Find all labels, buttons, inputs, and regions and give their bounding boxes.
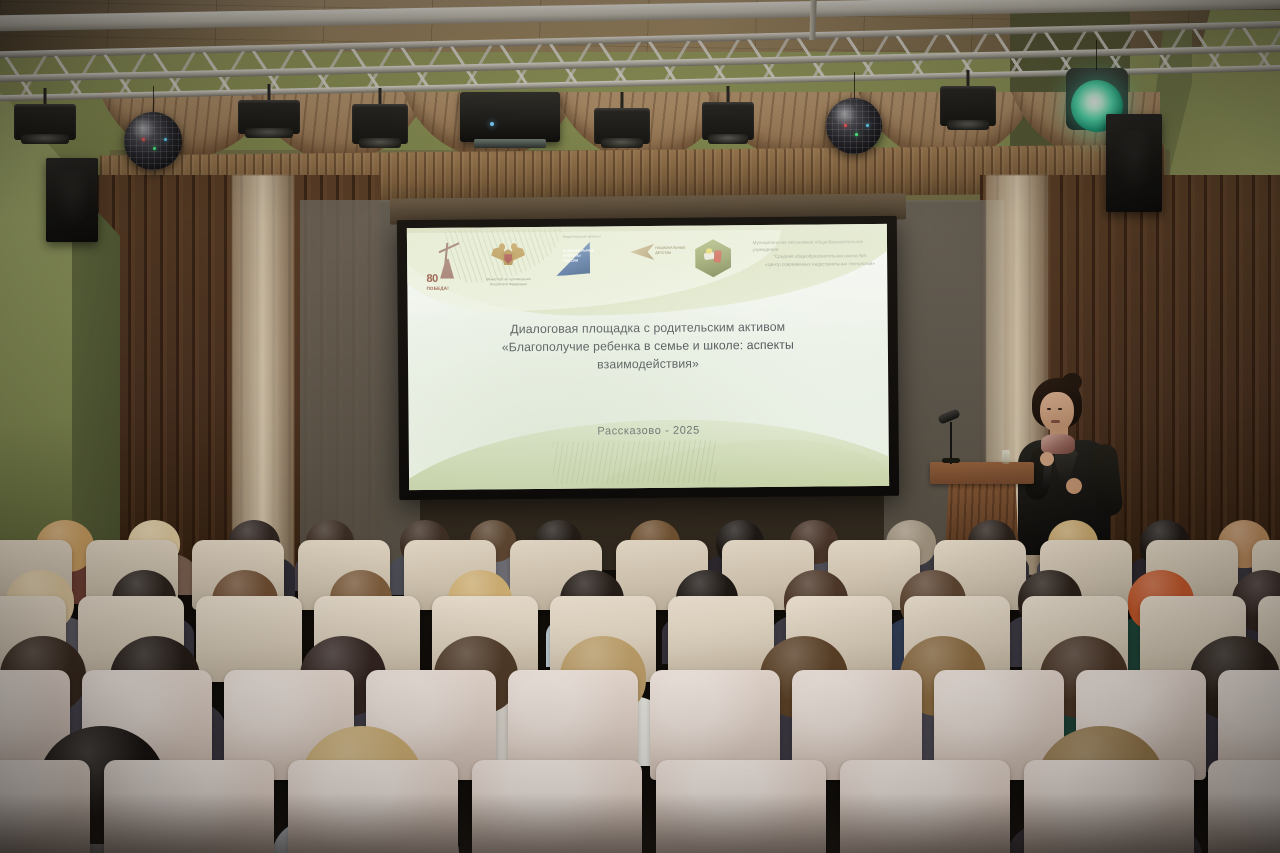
national-projects-label-3: РОССИИ [563,259,578,263]
par-can-light-6 [940,70,996,132]
movement-hexagon-logo [695,239,731,277]
school-name-block: Муниципальное автономное общеобразовател… [753,238,888,268]
slide-logo-row: 80 ПОБЕДА! Министерство просвещения Росс… [407,234,887,280]
par-can-light-2 [238,84,300,140]
detstvo-arrow-logo: НАЦИОНАЛЬНЫЕ ДЕТСТВА [630,242,684,266]
par-can-light-4 [594,92,650,150]
floor-shadow [0,793,1280,853]
mirror-ball-sparkle-icon [844,124,847,127]
presenter-face [1040,392,1074,432]
light-clamp-icon [379,88,382,104]
auditorium-photo: 80 ПОБЕДА! Министерство просвещения Росс… [0,0,1280,853]
mirror-ball-hang-wire [854,72,855,100]
par-can-light-1 [14,88,76,146]
light-clamp-icon [268,84,271,100]
water-bottle [1002,450,1010,464]
hexagon-mark-yellow-icon [706,248,712,253]
mirror-ball-sparkle-icon [164,138,167,141]
slide-mesh-decor-bottom [553,440,717,483]
mirror-ball-right [826,98,882,154]
statue-sword-icon [439,242,460,253]
detstvo-label-2: ДЕТСТВА [655,251,671,255]
light-clamp-icon [621,92,624,108]
light-clamp-icon [727,86,730,102]
slide-title: Диалоговая площадка с родительским актив… [436,318,859,376]
hexagon-mark-red-icon [713,250,721,263]
moving-head-hang-wire [1096,40,1097,70]
light-body [940,86,996,126]
national-projects-logo: НАЦИОНАЛЬНЫЕ ПРОЕКТЫ РОССИИ Национальные… [556,242,602,276]
light-lens-icon [245,128,292,138]
detstvo-label-1: НАЦИОНАЛЬНЫЕ [655,246,685,251]
projector-lens-icon [474,139,546,148]
presenter-scarf [1041,434,1075,454]
ministry-caption-line-2: Российской Федерации [477,282,539,287]
victory-badge-number: 80 [426,274,437,285]
mirror-ball-sparkle-icon [866,124,869,127]
pa-speaker-left [46,158,98,242]
victory-80-logo: 80 ПОБЕДА! [426,241,466,287]
video-projector [460,92,560,142]
light-body [594,108,650,144]
school-name-line-1: Муниципальное автономное общеобразовател… [753,238,888,253]
light-lens-icon [947,120,990,130]
microphone-base [942,458,960,463]
light-body [702,102,754,140]
school-name-line-3: «Центр современных индустриальных технол… [753,259,887,267]
slide-title-line-3: взаимодействия» [437,354,860,376]
light-body [238,100,300,134]
paper-plane-icon [630,244,654,260]
light-lens-icon [21,134,68,144]
par-can-light-5 [702,86,754,146]
light-clamp-icon [44,88,47,104]
eagle-head-right-icon [511,243,517,250]
light-lens-icon [708,134,748,144]
light-body [352,104,408,144]
light-clamp-icon [967,70,970,86]
lectern-desktop [930,462,1034,484]
projector-status-led [490,122,494,126]
mirror-ball-sparkle-icon [142,138,145,141]
projection-screen-frame: 80 ПОБЕДА! Министерство просвещения Росс… [397,216,899,500]
light-lens-icon [359,138,402,148]
pa-speaker-right [1106,114,1162,212]
presenter-mouth [1051,420,1060,423]
statue-body-icon [440,259,454,279]
presenter-hand-holding-mic [1040,452,1054,466]
eagle-head-left-icon [499,243,505,250]
mirror-ball-left [124,112,182,170]
russia-coat-of-arms-logo: Министерство просвещения Российской Феде… [491,241,525,275]
national-projects-caption: Национальные проекты [558,235,606,240]
presenter-eye-left [1047,408,1051,410]
national-projects-label-2: ПРОЕКТЫ [563,254,581,258]
par-can-light-3 [352,88,408,150]
light-body [14,104,76,140]
presenter-hand-gesturing [1066,478,1082,494]
projection-screen: 80 ПОБЕДА! Министерство просвещения Росс… [407,224,889,490]
mirror-ball-sparkle-icon [855,133,858,136]
presenter-eye-right [1058,408,1062,410]
mirror-ball-sparkle-icon [153,147,156,150]
mirror-ball-hang-wire [153,86,154,114]
victory-badge-word: ПОБЕДА! [427,286,449,291]
national-projects-label-1: НАЦИОНАЛЬНЫЕ [563,249,594,254]
light-lens-icon [601,138,644,148]
